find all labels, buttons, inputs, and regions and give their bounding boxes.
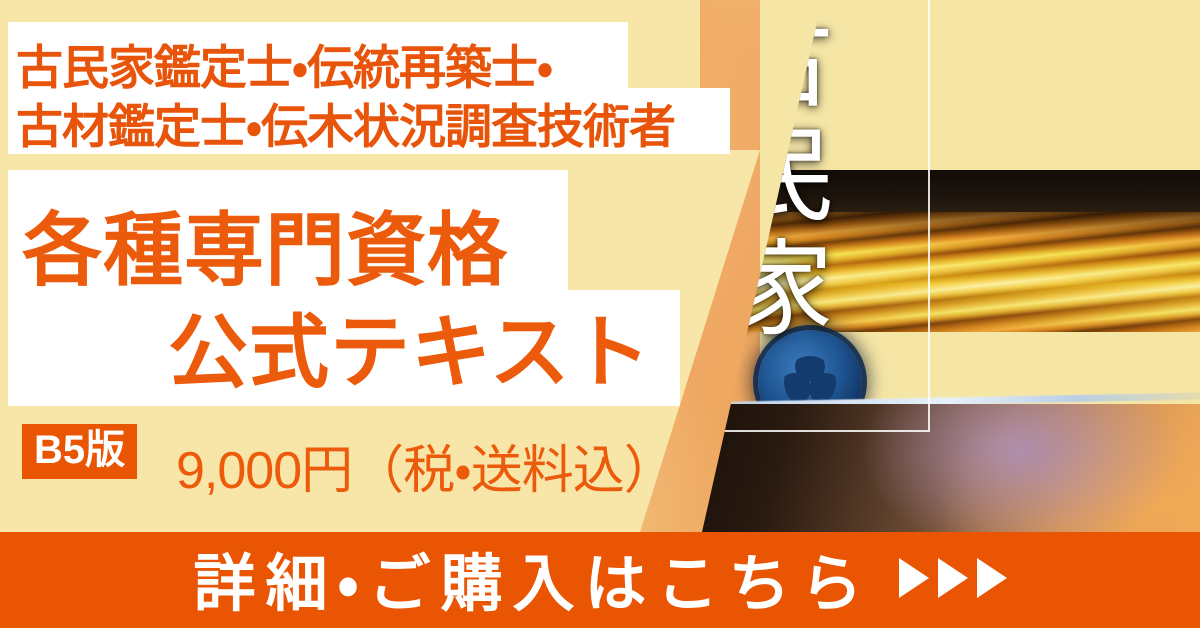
cta-bar[interactable]: 詳細・ご購入はこちら <box>0 532 1200 628</box>
headline-big-line-2: 公式テキスト <box>168 288 652 404</box>
cta-arrow-group <box>899 558 1007 598</box>
format-badge: B5版 <box>22 424 137 479</box>
promo-banner: 古民家 伝統構法 古民家活用のための調査と再生の 古民家鑑定士・伝統再築士・ 古… <box>0 0 1200 628</box>
headline-big-line-1: 各種専門資格 <box>22 186 508 302</box>
price-text: 9,000円（税・送料込） <box>176 428 675 503</box>
cta-label: 詳細・ご購入はこちら <box>193 533 872 623</box>
qualification-line-2: 古材鑑定士・伝木状況調査技術者 <box>16 88 675 157</box>
play-arrow-icon <box>977 558 1007 598</box>
play-arrow-icon <box>899 558 929 598</box>
play-arrow-icon <box>938 558 968 598</box>
